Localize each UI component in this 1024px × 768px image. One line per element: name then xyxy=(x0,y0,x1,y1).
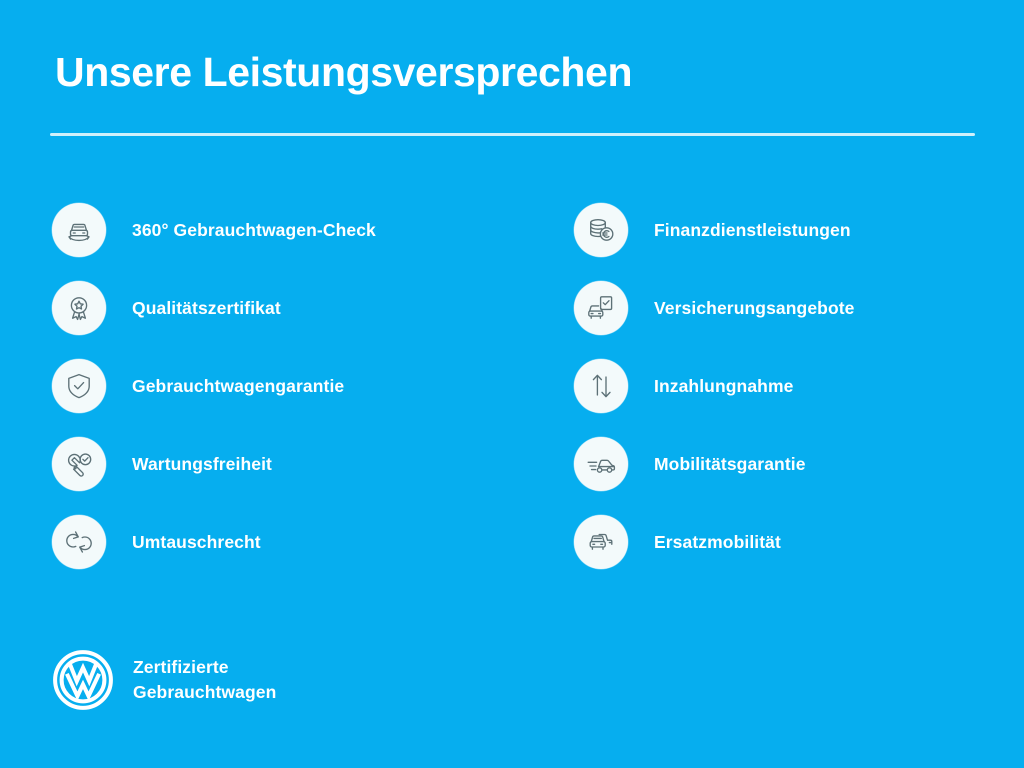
list-item-label: Umtauschrecht xyxy=(132,532,261,553)
list-item-label: 360° Gebrauchtwagen-Check xyxy=(132,220,376,241)
brand-line-2: Gebrauchtwagen xyxy=(133,682,276,702)
list-item[interactable]: Qualitätszertifikat xyxy=(52,281,512,359)
list-item[interactable]: Ersatzmobilität xyxy=(574,515,1024,593)
car-document-icon xyxy=(574,281,628,335)
brand-footer: Zertifizierte Gebrauchtwagen xyxy=(52,649,276,711)
promises-column-left: 360° Gebrauchtwagen-Check Qualitätszerti… xyxy=(52,203,512,593)
list-item[interactable]: Mobilitätsgarantie xyxy=(574,437,1024,515)
list-item-label: Inzahlungnahme xyxy=(654,376,793,397)
list-item-label: Mobilitätsgarantie xyxy=(654,454,806,475)
exchange-arrows-icon xyxy=(52,515,106,569)
brand-line-1: Zertifizierte xyxy=(133,657,229,677)
list-item[interactable]: Wartungsfreiheit xyxy=(52,437,512,515)
coins-euro-icon xyxy=(574,203,628,257)
brand-text: Zertifizierte Gebrauchtwagen xyxy=(133,655,276,705)
list-item-label: Finanzdienstleistungen xyxy=(654,220,851,241)
car-360-check-icon xyxy=(52,203,106,257)
list-item-label: Qualitätszertifikat xyxy=(132,298,281,319)
list-item-label: Ersatzmobilität xyxy=(654,532,781,553)
list-item[interactable]: Gebrauchtwagengarantie xyxy=(52,359,512,437)
car-motion-icon xyxy=(574,437,628,491)
volkswagen-logo-icon xyxy=(52,649,114,711)
title-divider xyxy=(50,133,975,136)
shield-check-icon xyxy=(52,359,106,413)
slide-root: Unsere Leistungsversprechen xyxy=(0,0,1024,768)
list-item-label: Versicherungsangebote xyxy=(654,298,855,319)
list-item[interactable]: Versicherungsangebote xyxy=(574,281,1024,359)
list-item[interactable]: Umtauschrecht xyxy=(52,515,512,593)
wrench-check-icon xyxy=(52,437,106,491)
list-item[interactable]: Inzahlungnahme xyxy=(574,359,1024,437)
two-cars-icon xyxy=(574,515,628,569)
arrows-up-down-icon xyxy=(574,359,628,413)
page-title: Unsere Leistungsversprechen xyxy=(55,50,632,95)
list-item[interactable]: Finanzdienstleistungen xyxy=(574,203,1024,281)
list-item-label: Wartungsfreiheit xyxy=(132,454,272,475)
list-item[interactable]: 360° Gebrauchtwagen-Check xyxy=(52,203,512,281)
promises-column-right: Finanzdienstleistungen xyxy=(574,203,1024,593)
list-item-label: Gebrauchtwagengarantie xyxy=(132,376,344,397)
award-rosette-icon xyxy=(52,281,106,335)
